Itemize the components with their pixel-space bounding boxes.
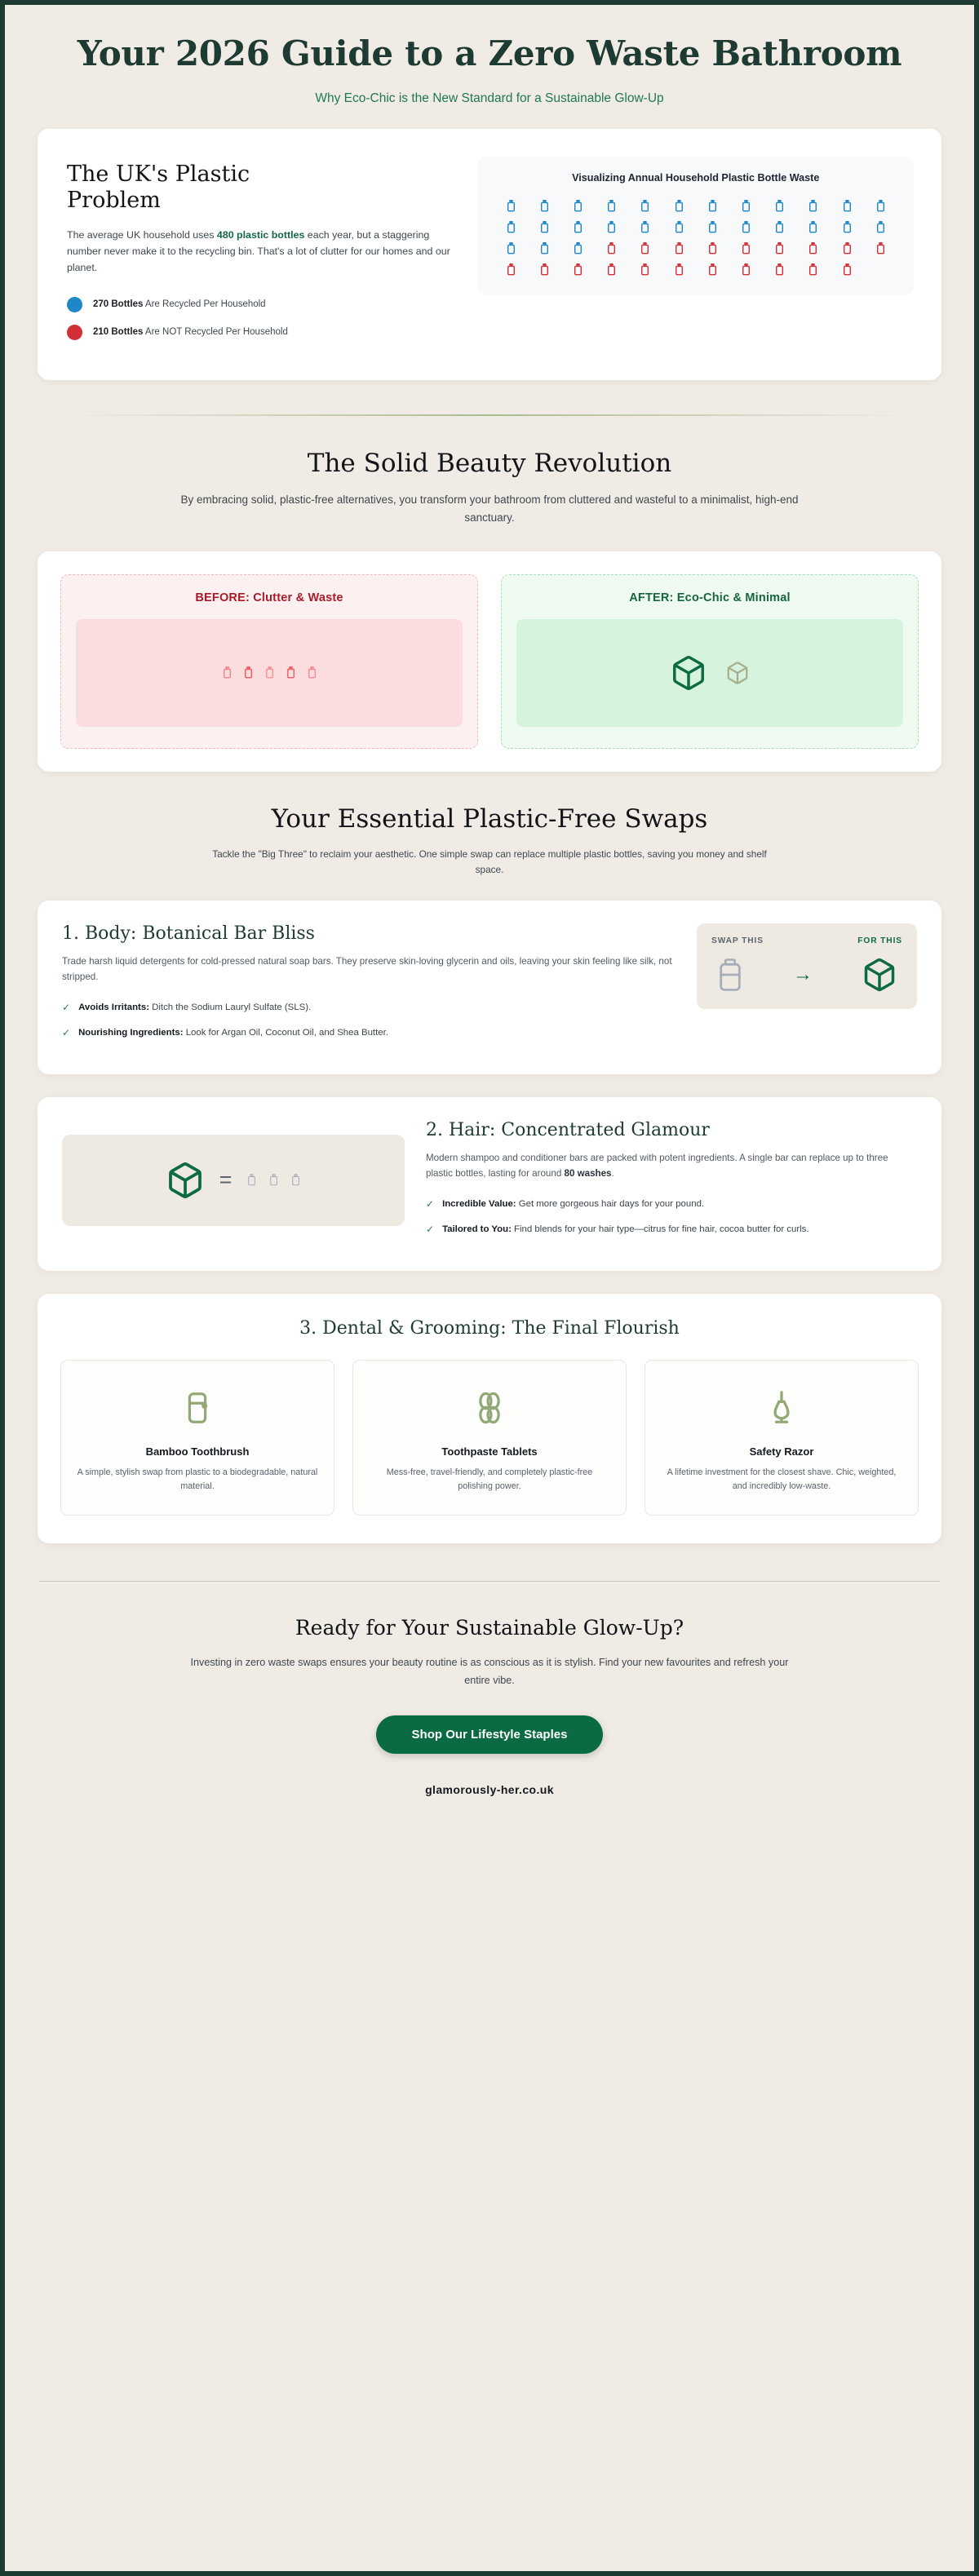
footer-domain: glamorously-her.co.uk <box>95 1783 884 1796</box>
swaps-subtitle: Tackle the "Big Three" to reclaim your a… <box>204 847 775 878</box>
infographic-page: Your 2026 Guide to a Zero Waste Bathroom… <box>5 5 974 2571</box>
bottle-icon <box>774 199 785 213</box>
legend-dot-blue <box>67 297 82 312</box>
solid-bar-box-icon <box>862 957 897 993</box>
bottle-icon <box>640 199 650 213</box>
swap-visual-body: SWAP THIS FOR THIS → <box>697 923 917 1009</box>
check-icon: ✓ <box>62 1001 70 1015</box>
after-icon-stage <box>516 619 903 727</box>
chart-title: Visualizing Annual Household Plastic Bot… <box>490 171 901 186</box>
bamboo-toothbrush-icon <box>76 1382 319 1434</box>
before-icon-stage <box>76 619 463 727</box>
problem-title: The UK's Plastic Problem <box>67 162 271 215</box>
bottle-icon <box>808 241 818 255</box>
bottle-icon <box>842 199 853 213</box>
hero-section: Your 2026 Guide to a Zero Waste Bathroom… <box>21 29 958 129</box>
bullet-text: Avoids Irritants: Ditch the Sodium Laury… <box>78 1001 311 1016</box>
bottle-icon <box>640 241 650 255</box>
bottle-icon <box>808 263 818 277</box>
check-icon: ✓ <box>62 1026 70 1040</box>
plastic-bottle-icon <box>286 666 296 679</box>
bottle-icon <box>674 263 684 277</box>
problem-body: The average UK household uses 480 plasti… <box>67 227 456 276</box>
bottle-icon <box>606 241 617 255</box>
dental-grid: Bamboo Toothbrush A simple, stylish swap… <box>60 1360 919 1516</box>
safety-razor-icon <box>660 1382 903 1434</box>
bottle-icon <box>573 199 583 213</box>
bottle-icon <box>539 220 550 234</box>
legend-dot-red <box>67 325 82 340</box>
plastic-problem-card: The UK's Plastic Problem The average UK … <box>38 129 941 380</box>
dental-item-razor: Safety Razor A lifetime investment for t… <box>645 1360 919 1516</box>
pictogram-chart: Visualizing Annual Household Plastic Bot… <box>477 157 914 294</box>
revolution-subtitle: By embracing solid, plastic-free alterna… <box>179 491 800 527</box>
bottle-icon <box>741 241 751 255</box>
bottle-icon <box>842 220 853 234</box>
problem-body-highlight: 480 plastic bottles <box>217 229 304 241</box>
page-subtitle: Why Eco-Chic is the New Standard for a S… <box>70 91 909 106</box>
revolution-title: The Solid Beauty Revolution <box>95 449 884 478</box>
page-title: Your 2026 Guide to a Zero Waste Bathroom <box>70 34 909 73</box>
bottle-icon <box>506 220 516 234</box>
bottle-icon <box>573 220 583 234</box>
bottle-icon <box>875 220 886 234</box>
swap-body-title: 1. Body: Botanical Bar Bliss <box>62 923 676 944</box>
dental-item-tablets: Toothpaste Tablets Mess-free, travel-fri… <box>352 1360 627 1516</box>
dental-item-name: Safety Razor <box>660 1445 903 1458</box>
footer-title: Ready for Your Sustainable Glow-Up? <box>95 1616 884 1640</box>
bullet-item: ✓ Incredible Value: Get more gorgeous ha… <box>426 1197 917 1212</box>
bottle-icon <box>606 199 617 213</box>
plastic-bottle-icon <box>246 1173 257 1187</box>
before-label: BEFORE: Clutter & Waste <box>76 591 463 604</box>
bullet-text: Tailored to You: Find blends for your ha… <box>442 1223 808 1237</box>
dental-item-name: Bamboo Toothbrush <box>76 1445 319 1458</box>
swap-hair-bullets: ✓ Incredible Value: Get more gorgeous ha… <box>426 1197 917 1237</box>
swap-this-label: SWAP THIS <box>711 936 764 945</box>
plastic-bottle-icon <box>716 957 744 993</box>
bullet-item: ✓ Nourishing Ingredients: Look for Argan… <box>62 1026 676 1041</box>
check-icon: ✓ <box>426 1223 434 1237</box>
check-icon: ✓ <box>426 1197 434 1211</box>
footer-body: Investing in zero waste swaps ensures yo… <box>188 1654 791 1689</box>
plastic-bottle-group <box>246 1173 301 1187</box>
bottle-icon <box>774 241 785 255</box>
bottle-icon <box>674 241 684 255</box>
plastic-bottle-icon <box>268 1173 279 1187</box>
before-panel: BEFORE: Clutter & Waste <box>60 574 478 749</box>
plastic-bottle-icon <box>290 1173 301 1187</box>
bottle-icon <box>506 199 516 213</box>
bottle-icon <box>875 241 886 255</box>
legend-item-not-recycled: 210 Bottles Are NOT Recycled Per Househo… <box>67 325 456 340</box>
bullet-text: Nourishing Ingredients: Look for Argan O… <box>78 1026 388 1041</box>
dental-item-desc: Mess-free, travel-friendly, and complete… <box>368 1466 611 1494</box>
dental-item-toothbrush: Bamboo Toothbrush A simple, stylish swap… <box>60 1360 334 1516</box>
dental-grooming-card: 3. Dental & Grooming: The Final Flourish… <box>38 1294 941 1544</box>
bullet-item: ✓ Tailored to You: Find blends for your … <box>426 1223 917 1237</box>
bottle-icon <box>506 263 516 277</box>
bottle-icon <box>707 263 718 277</box>
dental-title: 3. Dental & Grooming: The Final Flourish <box>60 1318 919 1339</box>
footer-section: Ready for Your Sustainable Glow-Up? Inve… <box>21 1582 958 1804</box>
swaps-title: Your Essential Plastic-Free Swaps <box>95 804 884 834</box>
bottle-icon <box>539 199 550 213</box>
bottle-icon <box>875 199 886 213</box>
swap-body-bullets: ✓ Avoids Irritants: Ditch the Sodium Lau… <box>62 1001 676 1040</box>
bottle-icon <box>640 263 650 277</box>
swap-hair-text: 2. Hair: Concentrated Glamour Modern sha… <box>426 1120 917 1248</box>
bottle-icon <box>674 220 684 234</box>
shop-cta-button[interactable]: Shop Our Lifestyle Staples <box>376 1715 604 1754</box>
pictogram-grid <box>490 199 901 277</box>
plastic-bottle-icon <box>222 666 233 679</box>
legend-label-not-recycled: 210 Bottles Are NOT Recycled Per Househo… <box>93 327 288 337</box>
bottle-icon <box>808 199 818 213</box>
toothpaste-tablets-icon <box>368 1382 611 1434</box>
bottle-icon <box>506 241 516 255</box>
swap-card-hair: = 2. Hair: Concentrated Glamour Modern s… <box>38 1097 941 1271</box>
bottle-icon <box>774 220 785 234</box>
bottle-icon <box>606 263 617 277</box>
after-label: AFTER: Eco-Chic & Minimal <box>516 591 903 604</box>
dental-item-name: Toothpaste Tablets <box>368 1445 611 1458</box>
solid-bar-box-icon-muted <box>725 661 750 685</box>
bottle-icon <box>640 220 650 234</box>
after-panel: AFTER: Eco-Chic & Minimal <box>501 574 919 749</box>
bottle-icon <box>573 241 583 255</box>
swap-visual-hair: = <box>62 1135 405 1226</box>
bottle-icon <box>842 241 853 255</box>
problem-text-column: The UK's Plastic Problem The average UK … <box>67 157 456 352</box>
bottle-icon <box>707 241 718 255</box>
bottle-icon <box>539 241 550 255</box>
plastic-bottle-icon <box>243 666 254 679</box>
bullet-text: Incredible Value: Get more gorgeous hair… <box>442 1197 704 1212</box>
bottle-icon <box>741 199 751 213</box>
bullet-item: ✓ Avoids Irritants: Ditch the Sodium Lau… <box>62 1001 676 1016</box>
equals-sign: = <box>219 1167 233 1193</box>
legend-label-recycled: 270 Bottles Are Recycled Per Household <box>93 299 266 309</box>
arrow-right-icon: → <box>793 965 813 985</box>
bottle-icon <box>741 220 751 234</box>
bottle-icon <box>774 263 785 277</box>
before-after-card: BEFORE: Clutter & Waste AFTER: Eco-Chic … <box>38 551 941 772</box>
swap-visual-row: → <box>711 957 902 993</box>
bottle-icon <box>707 199 718 213</box>
plastic-bottle-icon <box>307 666 317 679</box>
solid-bar-box-icon <box>166 1161 205 1200</box>
swaps-header: Your Essential Plastic-Free Swaps Tackle… <box>21 772 958 878</box>
plastic-bottle-icon <box>264 666 275 679</box>
bottle-icon <box>539 263 550 277</box>
before-after-grid: BEFORE: Clutter & Waste AFTER: Eco-Chic … <box>60 574 919 749</box>
bottle-icon <box>808 220 818 234</box>
problem-chart-column: Visualizing Annual Household Plastic Bot… <box>477 157 914 294</box>
for-this-label: FOR THIS <box>857 936 902 945</box>
swap-body-description: Trade harsh liquid detergents for cold-p… <box>62 954 676 985</box>
swap-hair-description: Modern shampoo and conditioner bars are … <box>426 1150 917 1181</box>
revolution-header: The Solid Beauty Revolution By embracing… <box>21 416 958 527</box>
problem-body-part1: The average UK household uses <box>67 229 217 241</box>
legend-item-recycled: 270 Bottles Are Recycled Per Household <box>67 297 456 312</box>
bottle-icon <box>606 220 617 234</box>
swap-visual-labels: SWAP THIS FOR THIS <box>711 936 902 945</box>
solid-bar-box-icon <box>670 654 707 692</box>
swap-card-body: 1. Body: Botanical Bar Bliss Trade harsh… <box>38 901 941 1074</box>
bottle-icon <box>741 263 751 277</box>
swap-body-text: 1. Body: Botanical Bar Bliss Trade harsh… <box>62 923 676 1051</box>
bottle-icon <box>707 220 718 234</box>
swap-hair-title: 2. Hair: Concentrated Glamour <box>426 1120 917 1140</box>
bottle-icon <box>573 263 583 277</box>
dental-item-desc: A simple, stylish swap from plastic to a… <box>76 1466 319 1494</box>
legend: 270 Bottles Are Recycled Per Household 2… <box>67 297 456 340</box>
bottle-icon <box>842 263 853 277</box>
bottle-icon <box>674 199 684 213</box>
dental-item-desc: A lifetime investment for the closest sh… <box>660 1466 903 1494</box>
